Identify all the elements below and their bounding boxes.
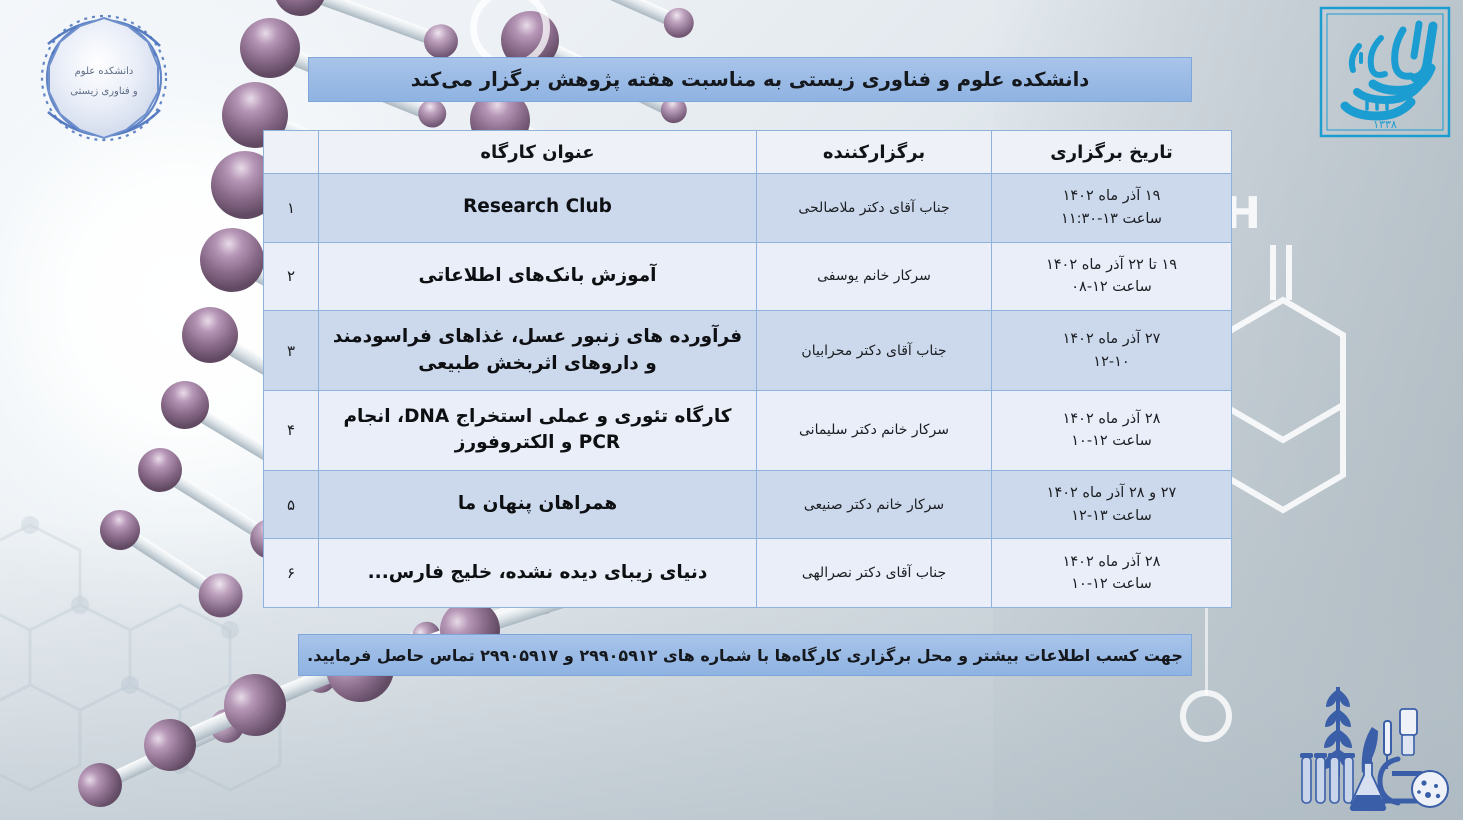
faculty-seal-line1: دانشکده علوم <box>75 66 134 77</box>
column-header-host: برگزارکننده <box>757 131 992 174</box>
footer-banner-text: جهت کسب اطلاعات بیشتر و محل برگزاری کارگ… <box>307 646 1183 665</box>
column-header-title: عنوان کارگاه <box>319 131 757 174</box>
cell-row-number: ۱ <box>264 174 319 243</box>
cell-host: جناب آقای دکتر نصرالهی <box>757 539 992 608</box>
cell-row-number: ۳ <box>264 311 319 391</box>
university-logo-year: ۱۳۳۸ <box>1373 118 1397 131</box>
column-header-date: تاریخ برگزاری <box>992 131 1232 174</box>
faculty-seal-line2: و فناوری زیستی <box>70 86 138 97</box>
cell-workshop-title: آموزش بانک‌های اطلاعاتی <box>319 242 757 311</box>
shahid-beheshti-university-logo-icon: ۱۳۳۸ <box>1315 2 1455 142</box>
date-line-2: ساعت ۱۳-۱۱:۳۰ <box>1000 208 1223 230</box>
workshop-table-container: تاریخ برگزاری برگزارکننده عنوان کارگاه ۱… <box>264 130 1232 608</box>
date-line-2: ساعت ۱۳-۱۲ <box>1000 505 1223 527</box>
date-line-1: ۲۸ آذر ماه ۱۴۰۲ <box>1000 408 1223 430</box>
date-line-1: ۲۷ و ۲۸ آذر ماه ۱۴۰۲ <box>1000 482 1223 504</box>
date-line-2: ۱۲-۱۰ <box>1000 351 1223 373</box>
table-row: ۱۹ تا ۲۲ آذر ماه ۱۴۰۲ساعت ۱۲-۰۸سرکار خان… <box>264 242 1232 311</box>
biotech-illustration <box>1280 679 1455 814</box>
workshop-table: تاریخ برگزاری برگزارکننده عنوان کارگاه ۱… <box>263 130 1232 608</box>
cell-date: ۲۸ آذر ماه ۱۴۰۲ساعت ۱۲-۱۰ <box>992 390 1232 470</box>
table-row: ۲۷ و ۲۸ آذر ماه ۱۴۰۲ساعت ۱۳-۱۲سرکار خانم… <box>264 470 1232 539</box>
cell-workshop-title: همراهان پنهان ما <box>319 470 757 539</box>
date-line-2: ساعت ۱۲-۱۰ <box>1000 430 1223 452</box>
date-line-1: ۲۸ آذر ماه ۱۴۰۲ <box>1000 551 1223 573</box>
cell-row-number: ۶ <box>264 539 319 608</box>
workshop-table-head: تاریخ برگزاری برگزارکننده عنوان کارگاه <box>264 131 1232 174</box>
lab-equipment-plant-icon <box>1280 679 1455 814</box>
faculty-seal: دانشکده علوم و فناوری زیستی <box>18 8 190 148</box>
cell-workshop-title: دنیای زیبای دیده نشده، خلیج فارس... <box>319 539 757 608</box>
decorative-ring-bottom-icon <box>1180 690 1232 742</box>
table-row: ۲۷ آذر ماه ۱۴۰۲۱۲-۱۰جناب آقای دکتر محراب… <box>264 311 1232 391</box>
header-banner-text: دانشکده علوم و فناوری زیستی به مناسبت هف… <box>411 68 1090 91</box>
workshop-table-body: ۱۹ آذر ماه ۱۴۰۲ساعت ۱۳-۱۱:۳۰جناب آقای دک… <box>264 174 1232 608</box>
cell-host: سرکار خانم دکتر سلیمانی <box>757 390 992 470</box>
cell-date: ۲۸ آذر ماه ۱۴۰۲ساعت ۱۲-۱۰ <box>992 539 1232 608</box>
table-header-row: تاریخ برگزاری برگزارکننده عنوان کارگاه <box>264 131 1232 174</box>
date-line-1: ۱۹ تا ۲۲ آذر ماه ۱۴۰۲ <box>1000 254 1223 276</box>
table-row: ۲۸ آذر ماه ۱۴۰۲ساعت ۱۲-۱۰سرکار خانم دکتر… <box>264 390 1232 470</box>
university-logo: ۱۳۳۸ <box>1315 2 1455 142</box>
cell-workshop-title: فرآورده های زنبور عسل، غذاهای فراسودمند … <box>319 311 757 391</box>
column-header-number <box>264 131 319 174</box>
cell-workshop-title: Research Club <box>319 174 757 243</box>
cell-host: جناب آقای دکتر ملاصالحی <box>757 174 992 243</box>
date-line-1: ۲۷ آذر ماه ۱۴۰۲ <box>1000 328 1223 350</box>
date-line-1: ۱۹ آذر ماه ۱۴۰۲ <box>1000 185 1223 207</box>
poster-canvas: CH 3 H NH <box>0 0 1463 820</box>
cell-row-number: ۴ <box>264 390 319 470</box>
cell-workshop-title: کارگاه تئوری و عملی استخراج DNA، انجام P… <box>319 390 757 470</box>
date-line-2: ساعت ۱۲-۰۸ <box>1000 276 1223 298</box>
cell-row-number: ۲ <box>264 242 319 311</box>
cell-date: ۱۹ تا ۲۲ آذر ماه ۱۴۰۲ساعت ۱۲-۰۸ <box>992 242 1232 311</box>
cell-host: جناب آقای دکتر محرابیان <box>757 311 992 391</box>
header-banner: دانشکده علوم و فناوری زیستی به مناسبت هف… <box>308 57 1192 102</box>
cell-date: ۲۷ و ۲۸ آذر ماه ۱۴۰۲ساعت ۱۳-۱۲ <box>992 470 1232 539</box>
footer-banner: جهت کسب اطلاعات بیشتر و محل برگزاری کارگ… <box>298 634 1192 676</box>
table-row: ۲۸ آذر ماه ۱۴۰۲ساعت ۱۲-۱۰جناب آقای دکتر … <box>264 539 1232 608</box>
cell-host: سرکار خانم یوسفی <box>757 242 992 311</box>
cell-date: ۱۹ آذر ماه ۱۴۰۲ساعت ۱۳-۱۱:۳۰ <box>992 174 1232 243</box>
faculty-seal-badge-icon: دانشکده علوم و فناوری زیستی <box>18 8 190 148</box>
table-row: ۱۹ آذر ماه ۱۴۰۲ساعت ۱۳-۱۱:۳۰جناب آقای دک… <box>264 174 1232 243</box>
date-line-2: ساعت ۱۲-۱۰ <box>1000 573 1223 595</box>
cell-row-number: ۵ <box>264 470 319 539</box>
cell-date: ۲۷ آذر ماه ۱۴۰۲۱۲-۱۰ <box>992 311 1232 391</box>
cell-host: سرکار خانم دکتر صنیعی <box>757 470 992 539</box>
